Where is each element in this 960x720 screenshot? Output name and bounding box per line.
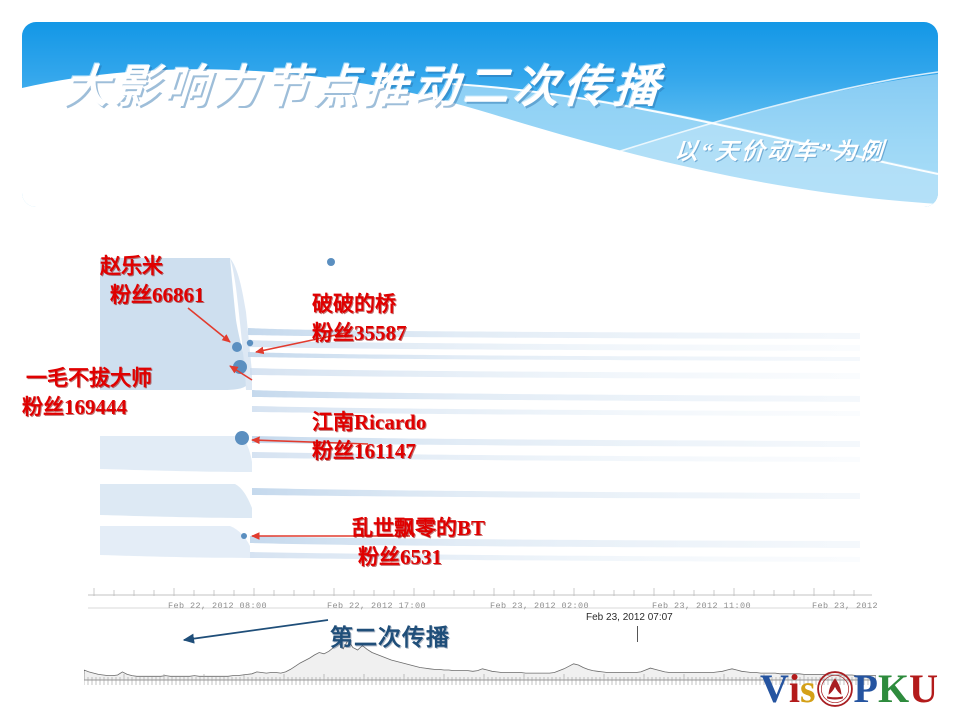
annotation-popodeqiao-followers: 粉丝35587 — [312, 319, 407, 348]
x-tick-label-4: Feb 23, 2012 — [812, 601, 878, 611]
annotation-luanshi-name: 乱世飘零的BT — [352, 514, 485, 543]
page-subtitle: 以“天价动车”为例 — [674, 132, 887, 166]
slide-header-banner: 大影响力节点推动二次传播 以“天价动车”为例 — [22, 22, 938, 207]
node-dot-jiangnan-ricardo[interactable] — [235, 431, 249, 445]
x-tick-label-3: Feb 23, 2012 11:00 — [652, 601, 751, 611]
second-spread-arrow — [150, 616, 350, 656]
logo-letter-p: P — [854, 669, 878, 709]
annotation-jiangnan-followers: 粉丝161147 — [312, 437, 426, 466]
annotation-yimaobuba-followers: 粉丝169444 — [22, 393, 152, 422]
annotation-zhaolemi-followers: 粉丝66861 — [110, 281, 205, 310]
pku-seal-icon — [817, 671, 853, 707]
annotation-jiangnan-name: 江南Ricardo — [312, 408, 426, 437]
annotation-luanshi-followers: 粉丝6531 — [358, 543, 485, 572]
annotation-zhaolemi: 赵乐米 粉丝66861 — [100, 252, 205, 310]
logo-letter-v: V — [760, 669, 789, 709]
annotation-yimaobuba: 一毛不拔大师 粉丝169444 — [26, 364, 152, 422]
logo-letter-k: K — [878, 669, 909, 709]
overview-caption: 第二次传播 — [330, 618, 450, 652]
node-dot-popo-small[interactable] — [247, 340, 253, 346]
vispku-logo: V i s P K U — [760, 664, 938, 714]
x-tick-label-0: Feb 22, 2012 08:00 — [168, 601, 267, 611]
logo-letter-s: s — [800, 669, 816, 709]
annotation-jiangnan-ricardo: 江南Ricardo 粉丝161147 — [312, 408, 426, 466]
page-title: 大影响力节点推动二次传播 — [62, 50, 667, 115]
node-dot-zhaolemi[interactable] — [232, 342, 242, 352]
logo-letter-i: i — [789, 669, 800, 709]
x-tick-label-1: Feb 22, 2012 17:00 — [327, 601, 426, 611]
slide-canvas: 大影响力节点推动二次传播 以“天价动车”为例 — [0, 0, 960, 720]
annotation-popodeqiao-name: 破破的桥 — [312, 290, 407, 319]
logo-letter-u: U — [909, 669, 938, 709]
node-dot-popodeqiao[interactable] — [327, 258, 335, 266]
annotation-luanshipiaoling: 乱世飘零的BT 粉丝6531 — [352, 514, 485, 572]
annotation-popodeqiao: 破破的桥 粉丝35587 — [312, 290, 407, 348]
cursor-timestamp-label: Feb 23, 2012 07:07 — [586, 612, 673, 623]
annotation-zhaolemi-name: 赵乐米 — [100, 252, 205, 281]
node-dot-luanshipiaoling[interactable] — [241, 533, 247, 539]
annotation-yimaobuba-name: 一毛不拔大师 — [26, 364, 152, 393]
x-tick-label-2: Feb 23, 2012 02:00 — [490, 601, 589, 611]
